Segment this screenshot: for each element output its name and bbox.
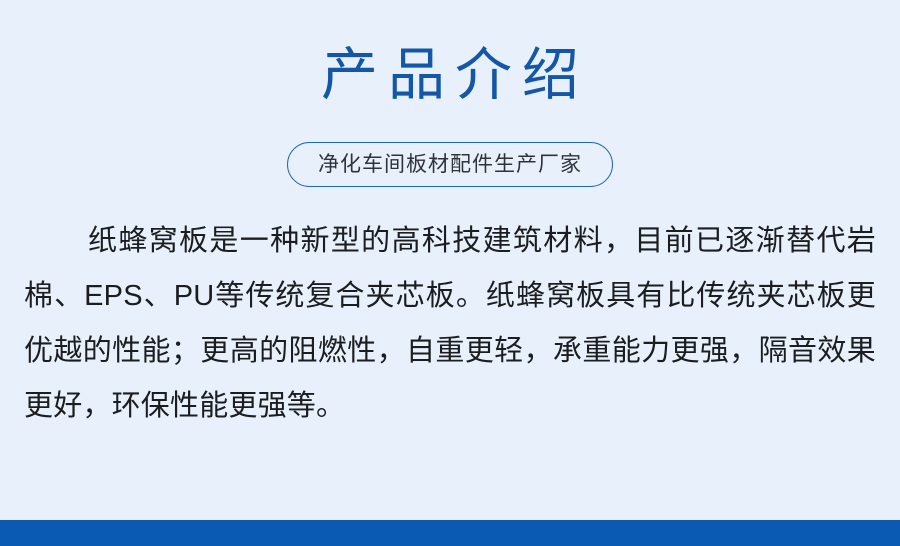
product-intro-page: 产品介绍 净化车间板材配件生产厂家 纸蜂窝板是一种新型的高科技建筑材料，目前已逐… <box>0 0 900 546</box>
heading-block: 产品介绍 <box>0 44 900 106</box>
subtitle-pill-badge: 净化车间板材配件生产厂家 <box>287 142 613 187</box>
subtitle-text: 净化车间板材配件生产厂家 <box>318 154 582 175</box>
body-container: 纸蜂窝板是一种新型的高科技建筑材料，目前已逐渐替代岩棉、EPS、PU等传统复合夹… <box>24 214 876 434</box>
body-paragraph: 纸蜂窝板是一种新型的高科技建筑材料，目前已逐渐替代岩棉、EPS、PU等传统复合夹… <box>24 214 876 434</box>
bottom-accent-bar <box>0 520 900 546</box>
subtitle-container: 净化车间板材配件生产厂家 <box>0 142 900 187</box>
page-title: 产品介绍 <box>0 44 900 106</box>
